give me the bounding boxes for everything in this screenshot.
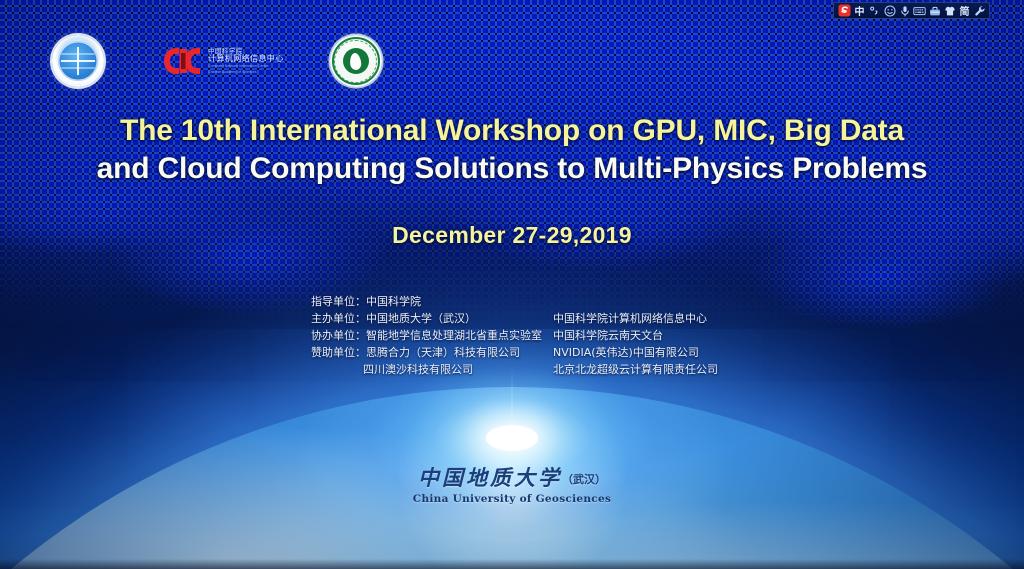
sponsor-logo-row: 中国科学院 计算机网络信息中心 Computer Network Informa… [52, 35, 382, 87]
conference-poster: 中国科学院 计算机网络信息中心 Computer Network Informa… [0, 0, 1024, 569]
soft-keyboard-icon[interactable] [912, 3, 927, 18]
organizer-left: 主办单位：中国地质大学（武汉） [311, 310, 553, 327]
university-name-chinese: 中国地质大学（武汉） [0, 462, 1024, 492]
cug-logo-icon [52, 35, 104, 87]
organizer-right: 中国科学院计算机网络信息中心 [553, 310, 707, 327]
organizer-row: 主办单位：中国地质大学（武汉） 中国科学院计算机网络信息中心 [311, 310, 718, 327]
poster-title: The 10th International Workshop on GPU, … [0, 112, 1024, 188]
cnic-line3: Computer Network Information Center [208, 65, 284, 69]
settings-wrench-icon[interactable] [972, 3, 987, 18]
cas-yunnan-observatories-logo-icon [330, 35, 382, 87]
chinese-english-toggle[interactable]: 中 [852, 3, 867, 18]
cnic-line4: Chinese Academy of Sciences [208, 71, 284, 75]
organizer-row: 指导单位：中国科学院 [311, 293, 718, 310]
toolbox-icon[interactable] [927, 3, 942, 18]
cnic-logo-text: 中国科学院 计算机网络信息中心 Computer Network Informa… [208, 48, 284, 75]
cnic-line2: 计算机网络信息中心 [208, 55, 284, 63]
organizer-row: 四川澳沙科技有限公司 北京北龙超级云计算有限责任公司 [311, 361, 718, 378]
organizer-left: 指导单位：中国科学院 [311, 293, 553, 310]
sogou-logo-icon[interactable] [836, 3, 852, 18]
organizer-right: NVIDIA(英伟达)中国有限公司 [553, 344, 699, 361]
title-line-1: The 10th International Workshop on GPU, … [0, 112, 1024, 150]
cug-logo-inner [58, 41, 98, 81]
organizer-right: 中国科学院云南天文台 [553, 327, 663, 344]
organizer-right: 北京北龙超级云计算有限责任公司 [553, 361, 718, 378]
skin-icon[interactable] [942, 3, 957, 18]
sogou-ime-toolbar[interactable]: 中 [833, 2, 990, 19]
university-branding: 中国地质大学（武汉） China University of Geoscienc… [0, 462, 1024, 505]
cnic-logo: 中国科学院 计算机网络信息中心 Computer Network Informa… [162, 46, 284, 76]
cnic-mark-icon [162, 46, 202, 76]
punctuation-toggle-icon[interactable] [867, 3, 882, 18]
simplified-traditional-toggle[interactable]: 简 [957, 3, 972, 18]
organizer-row: 赞助单位：思腾合力（天津）科技有限公司 NVIDIA(英伟达)中国有限公司 [311, 344, 718, 361]
organizer-row: 协办单位：智能地学信息处理湖北省重点实验室 中国科学院云南天文台 [311, 327, 718, 344]
university-name-chinese-paren: （武汉） [562, 473, 606, 486]
title-line-2: and Cloud Computing Solutions to Multi-P… [0, 150, 1024, 188]
voice-input-icon[interactable] [897, 3, 912, 18]
chinese-mode-label: 中 [855, 3, 865, 18]
organizer-left: 赞助单位：思腾合力（天津）科技有限公司 [311, 344, 553, 361]
conference-date: December 27-29,2019 [0, 222, 1024, 249]
university-name-chinese-main: 中国地质大学 [418, 465, 562, 490]
emoji-icon[interactable] [882, 3, 897, 18]
simplified-label: 简 [960, 3, 970, 18]
organizer-left: 协办单位：智能地学信息处理湖北省重点实验室 [311, 327, 553, 344]
organizer-left: 四川澳沙科技有限公司 [311, 361, 553, 378]
organizers-block: 指导单位：中国科学院 主办单位：中国地质大学（武汉） 中国科学院计算机网络信息中… [311, 293, 718, 378]
university-name-english: China University of Geosciences [0, 493, 1024, 505]
